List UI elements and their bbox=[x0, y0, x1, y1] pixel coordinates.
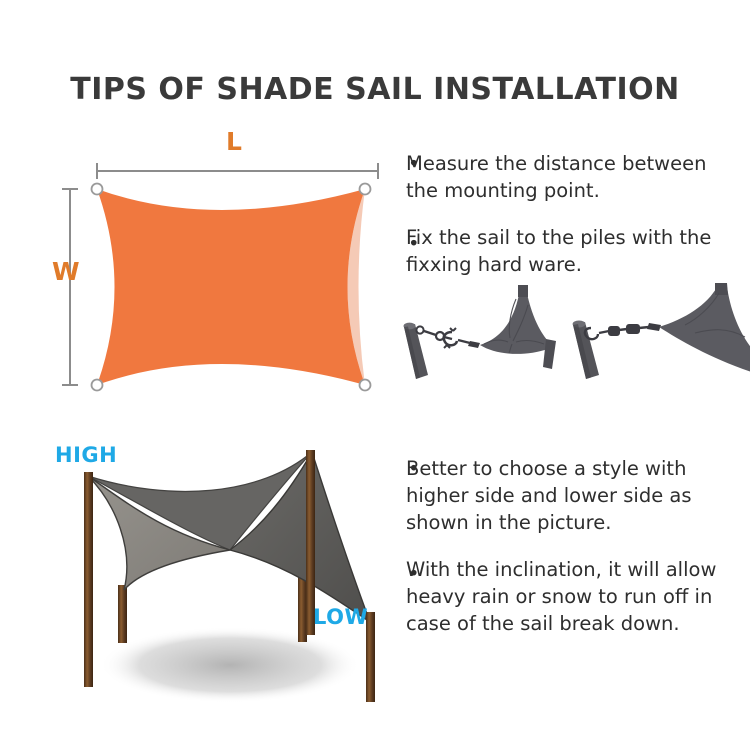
width-label: W bbox=[52, 257, 80, 286]
top-paragraph-1: Measure the distance between the mountin… bbox=[406, 150, 750, 204]
top-paragraph-2: Fix the sail to the piles with the fixxi… bbox=[406, 224, 750, 278]
top-p2-line2: fixxing hard ware. bbox=[406, 251, 750, 278]
post-back-left bbox=[118, 585, 127, 643]
page-title: TIPS OF SHADE SAIL INSTALLATION bbox=[0, 72, 750, 107]
top-left-diagram-panel: L W bbox=[30, 135, 390, 410]
bottom-text-clip: Better to choose a style with higher sid… bbox=[406, 455, 750, 645]
bottom-p1-line3: shown in the picture. bbox=[406, 509, 750, 536]
rectangular-sail-svg bbox=[30, 135, 390, 410]
bottom-p1-line1: Better to choose a style with bbox=[406, 455, 750, 482]
bottom-bullet-1: • bbox=[408, 457, 420, 480]
top-text-clip: Measure the distance between the mountin… bbox=[406, 150, 750, 285]
bottom-p2-line2: heavy rain or snow to run off in bbox=[406, 583, 750, 610]
ground-shadow bbox=[100, 627, 360, 703]
hardware-diagram-2-panel bbox=[565, 283, 750, 383]
bottom-paragraph-1: Better to choose a style with higher sid… bbox=[406, 455, 750, 536]
length-dimension-line bbox=[97, 163, 378, 179]
connector-plate-icon bbox=[647, 323, 661, 331]
bottom-p2-line3: case of the sail break down. bbox=[406, 610, 750, 637]
sail-corner-panel bbox=[480, 285, 556, 369]
connector-plate-icon bbox=[468, 341, 480, 348]
bottom-left-diagram-panel: HIGH LOW bbox=[40, 440, 420, 715]
shackle-chain-icon bbox=[585, 325, 649, 339]
high-label: HIGH bbox=[55, 443, 117, 467]
sail-corner-panel bbox=[659, 283, 750, 375]
pile-shackle-sail-corner-svg bbox=[565, 283, 750, 383]
bottom-text-block: Better to choose a style with higher sid… bbox=[406, 455, 750, 637]
top-p1-line2: the mounting point. bbox=[406, 177, 750, 204]
post-front-left-high bbox=[84, 472, 93, 687]
bottom-p1-line2: higher side and lower side as bbox=[406, 482, 750, 509]
low-label: LOW bbox=[313, 605, 368, 629]
turnbuckle-hardware-icon bbox=[424, 328, 470, 348]
bottom-bullet-2: • bbox=[408, 562, 420, 585]
width-dimension-line bbox=[62, 189, 78, 385]
eye-bolt-icon bbox=[416, 326, 423, 333]
top-p2-line1: Fix the sail to the piles with the bbox=[406, 224, 750, 251]
orange-sail-shape bbox=[97, 189, 365, 385]
bottom-paragraph-2: With the inclination, it will allow heav… bbox=[406, 556, 750, 637]
hardware-diagram-1-panel bbox=[398, 283, 573, 383]
top-bullet-2: • bbox=[408, 232, 420, 255]
top-bullet-1: • bbox=[408, 152, 420, 175]
top-p1-line1: Measure the distance between bbox=[406, 150, 750, 177]
inclined-sail-svg bbox=[40, 440, 420, 715]
length-label: L bbox=[226, 127, 242, 156]
top-text-block: Measure the distance between the mountin… bbox=[406, 150, 750, 278]
pile-turnbuckle-sail-corner-svg bbox=[398, 283, 573, 383]
bottom-p2-line1: With the inclination, it will allow bbox=[406, 556, 750, 583]
infographic-page: TIPS OF SHADE SAIL INSTALLATION bbox=[0, 0, 750, 750]
